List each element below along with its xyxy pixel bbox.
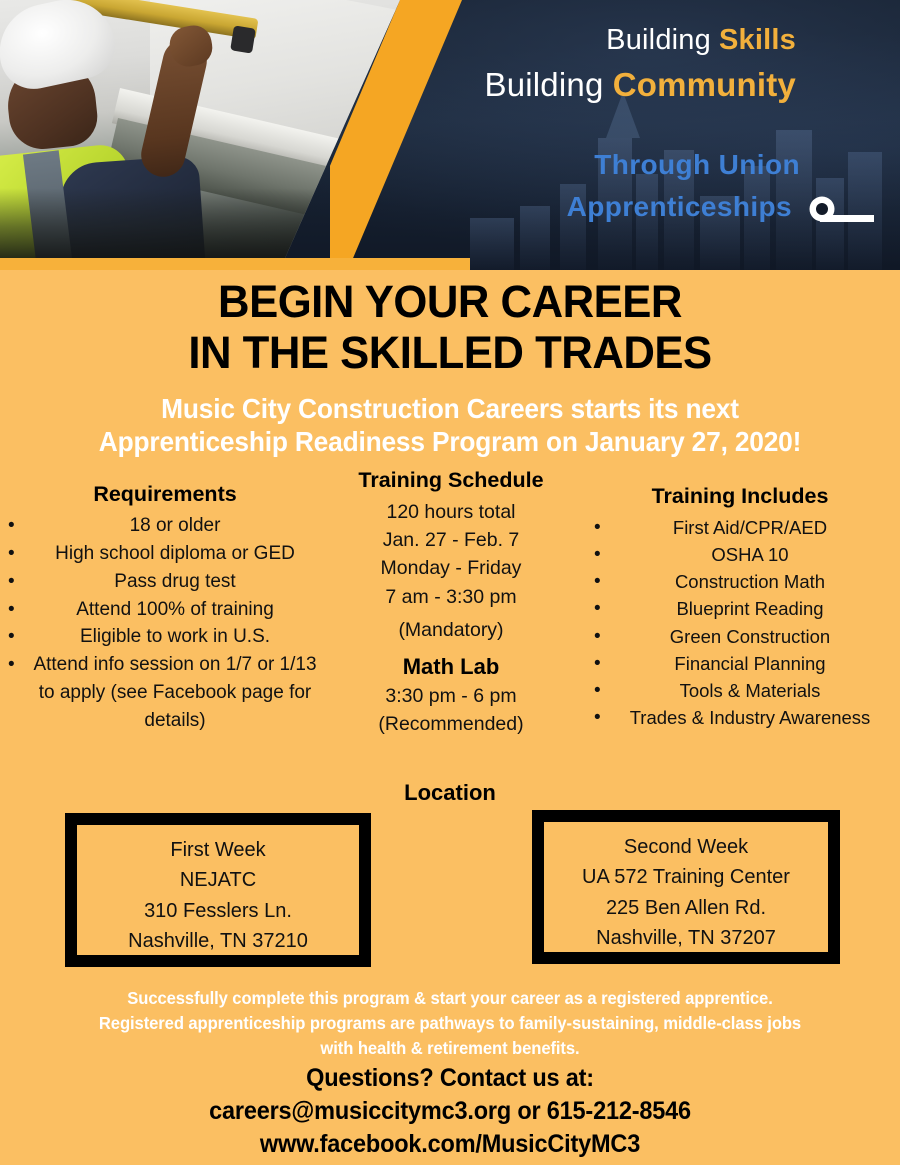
list-item-label: Eligible to work in U.S. [80,626,270,647]
building-shape [470,218,514,270]
tagline-line-1: Building Skills [606,26,796,55]
list-item-label: Financial Planning [674,653,825,674]
page-headline: BEGIN YOUR CAREER IN THE SKILLED TRADES [14,276,887,379]
schedule-line: Jan. 27 - Feb. 7 [326,526,576,554]
tagline-community: Community [613,66,796,103]
circle-bar-logo-icon [806,196,874,226]
location-box-inner: First Week NEJATC 310 Fesslers Ln. Nashv… [77,825,359,969]
bullet-icon: • [8,651,15,679]
footer-contact: Questions? Contact us at: careers@musicc… [38,1062,861,1161]
list-item-label: Construction Math [675,571,825,592]
requirements-list: •18 or older •High school diploma or GED… [0,512,330,735]
location-box-first-week: First Week NEJATC 310 Fesslers Ln. Nashv… [65,813,371,967]
footer-white-line-2: Registered apprenticeship programs are p… [34,1011,866,1036]
building-shape [636,174,658,270]
list-item: •Trades & Industry Awareness [580,704,900,731]
list-item-label: High school diploma or GED [55,543,295,564]
subhead-line-1: Music City Construction Careers starts i… [40,392,860,425]
list-item: •Financial Planning [580,650,900,677]
schedule-line: 120 hours total [326,498,576,526]
list-item: •Tools & Materials [580,677,900,704]
contact-email-phone[interactable]: careers@musiccitymc3.org or 615-212-8546 [38,1095,861,1128]
first-week-city: Nashville, TN 37210 [85,926,351,956]
list-item-label: Pass drug test [114,571,235,592]
footer-white-line-1: Successfully complete this program & sta… [34,986,866,1011]
bullet-icon: • [594,541,601,569]
bullet-icon: • [594,704,601,732]
page-subheadline: Music City Construction Careers starts i… [40,392,860,458]
schedule-lines: 120 hours total Jan. 27 - Feb. 7 Monday … [326,498,576,644]
tagline-building-2: Building [484,66,603,103]
bullet-icon: • [594,514,601,542]
bullet-icon: • [8,623,15,651]
training-schedule-column: Training Schedule 120 hours total Jan. 2… [326,468,576,739]
flyer-page: Building Skills Building Community Throu… [0,0,900,1165]
orange-bottom-bar [0,258,470,270]
list-item-label: Tools & Materials [680,680,821,701]
requirements-column: Requirements •18 or older •High school d… [0,468,330,735]
list-item-label: Attend info session on 1/7 or 1/13 to ap… [33,654,316,731]
tagline-line-2: Building Community [484,68,796,101]
list-item: •18 or older [0,512,330,540]
bullet-icon: • [594,568,601,596]
training-includes-list: •First Aid/CPR/AED •OSHA 10 •Constructio… [580,514,900,732]
bullet-icon: • [8,596,15,624]
training-schedule-title: Training Schedule [326,468,576,494]
footer-disclaimer: Successfully complete this program & sta… [34,986,866,1061]
second-week-city: Nashville, TN 37207 [552,923,820,953]
schedule-line: Monday - Friday [326,554,576,582]
list-item-label: Trades & Industry Awareness [630,707,871,728]
list-item: •Green Construction [580,623,900,650]
list-item-label: 18 or older [130,515,221,536]
list-item-label: Blueprint Reading [676,598,823,619]
list-item-label: First Aid/CPR/AED [673,517,827,538]
info-columns: Requirements •18 or older •High school d… [0,468,900,768]
training-includes-column: Training Includes •First Aid/CPR/AED •OS… [580,468,900,731]
bullet-icon: • [594,677,601,705]
list-item: •Eligible to work in U.S. [0,623,330,651]
first-week-label: First Week [85,835,351,865]
list-item: •OSHA 10 [580,541,900,568]
facebook-link[interactable]: www.facebook.com/MusicCityMC3 [38,1128,861,1161]
second-week-venue: UA 572 Training Center [552,862,820,892]
bullet-icon: • [8,540,15,568]
footer-white-line-3: with health & retirement benefits. [34,1036,866,1061]
location-box-second-week: Second Week UA 572 Training Center 225 B… [532,810,840,964]
headline-line-1: BEGIN YOUR CAREER [14,276,887,327]
first-week-street: 310 Fesslers Ln. [85,896,351,926]
list-item: •Attend info session on 1/7 or 1/13 to a… [0,651,330,735]
list-item: •Pass drug test [0,568,330,596]
list-item: •Attend 100% of training [0,596,330,624]
location-title: Location [0,780,900,806]
second-week-label: Second Week [552,832,820,862]
list-item-label: Green Construction [670,626,830,647]
list-item: •High school diploma or GED [0,540,330,568]
training-includes-title: Training Includes [580,468,900,510]
math-lab-title: Math Lab [326,654,576,680]
building-shape [520,206,550,270]
bullet-icon: • [594,595,601,623]
bullet-icon: • [8,568,15,596]
schedule-mandatory-note: (Mandatory) [326,616,576,644]
math-lab-time: 3:30 pm - 6 pm [326,682,576,710]
math-lab-details: 3:30 pm - 6 pm (Recommended) [326,682,576,739]
subtagline-line-2: Apprenticeships [567,192,792,222]
bullet-icon: • [594,650,601,678]
bullet-icon: • [8,512,15,540]
schedule-line: 7 am - 3:30 pm [326,583,576,611]
location-box-inner: Second Week UA 572 Training Center 225 B… [544,822,828,966]
list-item: •First Aid/CPR/AED [580,514,900,541]
subhead-line-2: Apprenticeship Readiness Program on Janu… [40,425,860,458]
list-item-label: OSHA 10 [711,544,788,565]
list-item: •Blueprint Reading [580,595,900,622]
headline-line-2: IN THE SKILLED TRADES [14,327,887,378]
contact-heading: Questions? Contact us at: [38,1062,861,1095]
header-banner: Building Skills Building Community Throu… [0,0,900,270]
tagline-skills: Skills [719,24,796,56]
list-item: •Construction Math [580,568,900,595]
photo-pipe-fitting [230,25,256,53]
second-week-street: 225 Ben Allen Rd. [552,893,820,923]
requirements-title: Requirements [0,468,330,508]
bullet-icon: • [594,623,601,651]
math-lab-note: (Recommended) [326,710,576,738]
list-item-label: Attend 100% of training [76,599,274,620]
first-week-venue: NEJATC [85,865,351,895]
subtagline-line-1: Through Union [594,150,800,180]
tagline-building-1: Building [606,24,711,56]
